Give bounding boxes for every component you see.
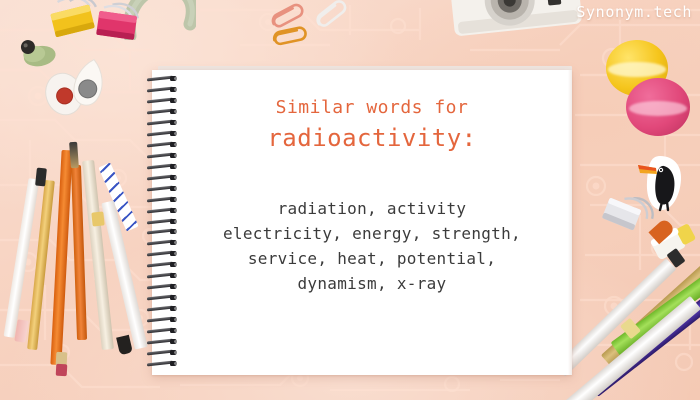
- spiral-ring: [145, 153, 179, 158]
- spiral-ring: [145, 186, 179, 191]
- pencil-graphite-tip-icon: [69, 142, 79, 168]
- spiral-ring: [145, 240, 179, 245]
- macaron-pink-icon: [626, 78, 690, 136]
- synonym-line: radiation, activity: [182, 196, 562, 221]
- spiral-ring: [145, 251, 179, 256]
- synonym-line: service, heat, potential,: [182, 246, 562, 271]
- spiral-ring: [145, 317, 179, 322]
- spiral-ring: [145, 350, 179, 355]
- synonym-line: electricity, energy, strength,: [182, 221, 562, 246]
- screenshot-canvas: Similar words for radioactivity: radiati…: [0, 0, 700, 400]
- spiral-ring: [145, 339, 179, 344]
- site-logo[interactable]: Synonym.tech: [576, 3, 692, 21]
- spiral-ring: [145, 98, 179, 103]
- synonym-line: dynamism, x-ray: [182, 271, 562, 296]
- spiral-ring: [145, 262, 179, 267]
- spiral-ring: [145, 208, 179, 213]
- bird-figurine-icon: [18, 33, 63, 71]
- spiral-ring: [145, 328, 179, 333]
- spiral-ring: [145, 229, 179, 234]
- spiral-ring: [145, 273, 179, 278]
- binder-clip-pink-icon: [91, 0, 150, 48]
- spiral-ring: [145, 120, 179, 125]
- spiral-ring: [145, 219, 179, 224]
- spiral-ring: [145, 164, 179, 169]
- pencil-orange-eraser-icon: [56, 364, 68, 377]
- spiral-ring: [145, 76, 179, 81]
- spiral-ring: [145, 109, 179, 114]
- pencil-yellow-ferrule-icon: [35, 168, 47, 187]
- spiral-ring: [145, 284, 179, 289]
- spiral-ring: [145, 306, 179, 311]
- spiral-ring: [145, 295, 179, 300]
- spiral-ring: [145, 361, 179, 366]
- synonym-list: radiation, activityelectricity, energy, …: [182, 196, 562, 296]
- spiral-ring: [145, 197, 179, 202]
- spiral-ring: [145, 131, 179, 136]
- spiral-ring: [145, 142, 179, 147]
- spiral-binding: [145, 76, 181, 372]
- page-right-edge: [568, 70, 572, 375]
- spiral-ring: [145, 87, 179, 92]
- spiral-ring: [145, 175, 179, 180]
